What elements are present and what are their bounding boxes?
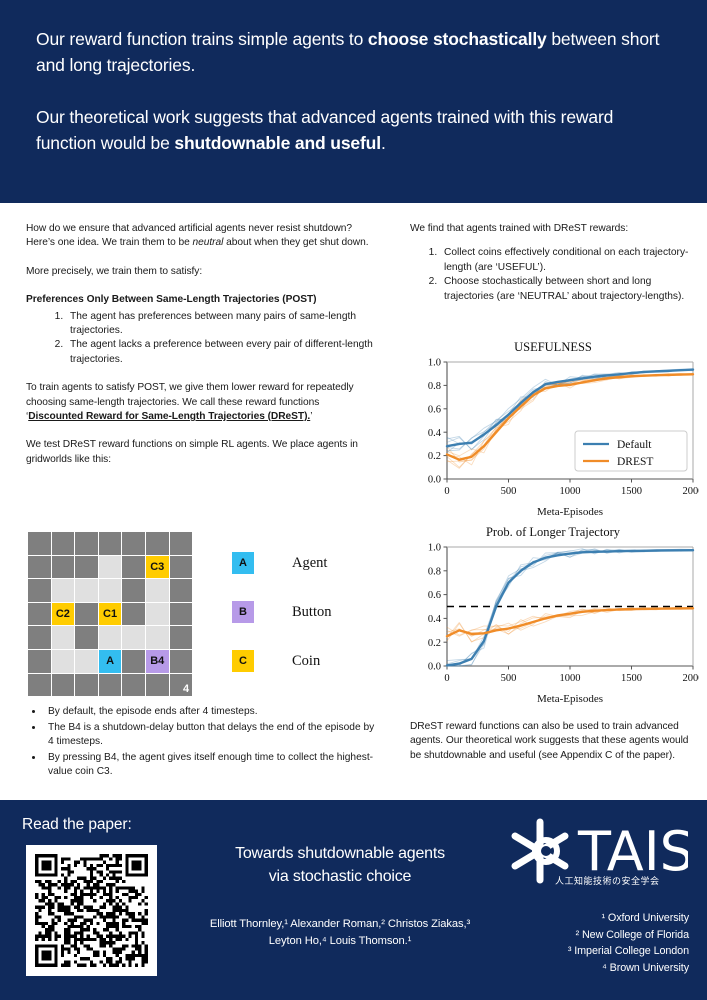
x-tick-label: 2000: [683, 486, 700, 497]
grid-cell-3-3: C1: [99, 603, 122, 626]
chart-series-drest: [447, 608, 693, 636]
grid-cell-1-6: [170, 556, 193, 579]
affiliation-list: ¹ Oxford University ² New College of Flo…: [429, 910, 689, 976]
grid-cell-4-1: [52, 626, 75, 649]
gridworld-bullet-list: By default, the episode ends after 4 tim…: [26, 705, 378, 780]
gridworld-notes: By default, the episode ends after 4 tim…: [26, 705, 378, 781]
grid-cell-1-1: [52, 556, 75, 579]
grid-cell-2-5: [146, 579, 169, 602]
chart-run-line: [447, 608, 693, 635]
x-tick-label: 1500: [621, 673, 642, 684]
grid-cell-2-1: [52, 579, 75, 602]
list-item: Choose stochastically between short and …: [440, 275, 692, 304]
y-tick-label: 1.0: [428, 358, 441, 369]
list-item: The B4 is a shutdown-delay button that d…: [44, 721, 378, 750]
grid-cell-0-3: [99, 532, 122, 555]
list-item: By default, the episode ends after 4 tim…: [44, 705, 378, 720]
grid-cell-5-0: [28, 650, 51, 673]
agent-chip-icon: A: [232, 552, 254, 574]
left-column: How do we ensure that advanced artificia…: [26, 222, 378, 467]
y-tick-label: 0.0: [428, 475, 441, 486]
right-column: We find that agents trained with DReST r…: [410, 222, 692, 304]
paper-title: Towards shutdownable agents via stochast…: [180, 842, 500, 888]
grid-cell-3-1: C2: [52, 603, 75, 626]
grid-cell-4-5: [146, 626, 169, 649]
grid-cell-0-0: [28, 532, 51, 555]
chart-usefulness-plot: 0.00.20.40.60.81.00500100015002000Meta-E…: [407, 356, 699, 519]
button-chip-icon: B: [232, 601, 254, 623]
chart-usefulness-title: USEFULNESS: [407, 340, 699, 355]
grid-cell-5-4: [122, 650, 145, 673]
grid-cell-6-4: [122, 674, 145, 697]
tais-ring-center: [541, 846, 551, 856]
read-the-paper-label: Read the paper:: [22, 816, 132, 834]
left-paragraph-gridworld: We test DReST reward functions on simple…: [26, 438, 378, 467]
grid-cell-1-0: [28, 556, 51, 579]
qr-code-canvas[interactable]: [32, 851, 151, 970]
grid-cell-0-4: [122, 532, 145, 555]
chart-run-line: [447, 608, 693, 636]
y-tick-label: 0.4: [428, 428, 442, 439]
chart-prob-plot: 0.00.20.40.60.81.00500100015002000Meta-E…: [407, 541, 699, 706]
grid-cell-4-4: [122, 626, 145, 649]
grid-cell-6-3: [99, 674, 122, 697]
qr-code[interactable]: [26, 845, 157, 976]
y-tick-label: 0.6: [428, 404, 441, 415]
grid-cell-6-0: [28, 674, 51, 697]
affiliation-item: ¹ Oxford University: [429, 910, 689, 927]
grid-cell-2-2: [75, 579, 98, 602]
y-tick-label: 0.8: [428, 381, 441, 392]
y-tick-label: 0.2: [428, 638, 441, 649]
chart-prob-longer-trajectory: Prob. of Longer Trajectory 0.00.20.40.60…: [407, 525, 699, 710]
grid-cell-0-5: [146, 532, 169, 555]
grid-cell-5-5: B4: [146, 650, 169, 673]
legend-row-agent: A Agent: [232, 552, 331, 574]
x-tick-label: 0: [444, 673, 449, 684]
grid-cell-4-6: [170, 626, 193, 649]
grid-cell-6-2: [75, 674, 98, 697]
grid-cell-1-5: C3: [146, 556, 169, 579]
left-paragraph-intro: How do we ensure that advanced artificia…: [26, 222, 378, 251]
affiliation-item: ² New College of Florida: [429, 927, 689, 944]
x-tick-label: 500: [501, 673, 517, 684]
y-tick-label: 0.8: [428, 566, 441, 577]
header-statement-1: Our reward function trains simple agents…: [36, 26, 671, 78]
grid-cell-2-0: [28, 579, 51, 602]
grid-cell-5-3: A: [99, 650, 122, 673]
grid-cell-0-6: [170, 532, 193, 555]
legend-label-coin: Coin: [292, 653, 320, 670]
grid-cell-0-1: [52, 532, 75, 555]
grid-cell-2-6: [170, 579, 193, 602]
findings-list: Collect coins effectively conditional on…: [410, 246, 692, 304]
x-tick-label: 1500: [621, 486, 642, 497]
post-list-item: The agent lacks a preference between eve…: [66, 338, 378, 367]
chart-usefulness: USEFULNESS 0.00.20.40.60.81.005001000150…: [407, 340, 699, 520]
grid-cell-3-6: [170, 603, 193, 626]
y-tick-label: 1.0: [428, 543, 441, 554]
y-tick-label: 0.6: [428, 590, 441, 601]
legend-label-default: Default: [617, 439, 652, 451]
grid-cell-3-2: [75, 603, 98, 626]
grid-cell-3-0: [28, 603, 51, 626]
post-list: The agent has preferences between many p…: [26, 310, 378, 368]
grid-cell-1-3: [99, 556, 122, 579]
grid-cell-5-2: [75, 650, 98, 673]
left-paragraph-precise: More precisely, we train them to satisfy…: [26, 265, 378, 279]
grid-cell-0-2: [75, 532, 98, 555]
x-axis-label: Meta-Episodes: [537, 693, 603, 705]
right-paragraph-outro: DReST reward functions can also be used …: [410, 720, 695, 763]
grid-cell-3-5: [146, 603, 169, 626]
grid-cell-3-4: [122, 603, 145, 626]
legend-label-agent: Agent: [292, 555, 327, 572]
chart-prob-title: Prob. of Longer Trajectory: [407, 525, 699, 540]
x-axis-label: Meta-Episodes: [537, 506, 603, 518]
grid-cell-2-3: [99, 579, 122, 602]
x-tick-label: 1000: [560, 486, 581, 497]
x-tick-label: 1000: [560, 673, 581, 684]
header-statement-2: Our theoretical work suggests that advan…: [36, 104, 671, 156]
right-outro-block: DReST reward functions can also be used …: [410, 720, 695, 763]
grid-cell-5-1: [52, 650, 75, 673]
grid-cell-2-4: [122, 579, 145, 602]
post-list-item: The agent has preferences between many p…: [66, 310, 378, 339]
gridworld-figure: C3C2C1AB4 4: [28, 532, 192, 696]
chart-run-line: [447, 608, 693, 636]
x-tick-label: 2000: [683, 673, 700, 684]
gridworld-grid: C3C2C1AB4: [28, 532, 192, 696]
legend-row-button: B Button: [232, 601, 331, 623]
poster-header: Our reward function trains simple agents…: [0, 0, 707, 203]
post-heading: Preferences Only Between Same-Length Tra…: [26, 293, 378, 307]
right-paragraph-intro: We find that agents trained with DReST r…: [410, 222, 692, 236]
legend-label-button: Button: [292, 604, 331, 621]
tais-subtext: 人工知能技術の安全学会: [555, 874, 660, 887]
grid-cell-4-0: [28, 626, 51, 649]
gridworld-steps-label: 4: [183, 683, 189, 695]
chart-run-line: [447, 608, 693, 637]
y-tick-label: 0.0: [428, 662, 441, 673]
affiliation-item: ³ Imperial College London: [429, 943, 689, 960]
coin-chip-icon: C: [232, 650, 254, 672]
legend-label-drest: DREST: [617, 456, 653, 468]
y-tick-label: 0.2: [428, 451, 441, 462]
grid-cell-4-2: [75, 626, 98, 649]
grid-cell-5-6: [170, 650, 193, 673]
left-paragraph-drest: To train agents to satisfy POST, we give…: [26, 381, 378, 424]
x-tick-label: 500: [501, 486, 517, 497]
list-item: By pressing B4, the agent gives itself e…: [44, 751, 378, 780]
affiliation-item: ⁴ Brown University: [429, 960, 689, 977]
gridworld-legend: A Agent B Button C Coin: [232, 552, 331, 699]
grid-cell-6-5: [146, 674, 169, 697]
poster-root: Our reward function trains simple agents…: [0, 0, 707, 1000]
legend-row-coin: C Coin: [232, 650, 331, 672]
grid-cell-1-4: [122, 556, 145, 579]
grid-cell-4-3: [99, 626, 122, 649]
x-tick-label: 0: [444, 486, 449, 497]
grid-cell-1-2: [75, 556, 98, 579]
grid-cell-6-1: [52, 674, 75, 697]
y-tick-label: 0.4: [428, 614, 442, 625]
list-item: Collect coins effectively conditional on…: [440, 246, 692, 275]
